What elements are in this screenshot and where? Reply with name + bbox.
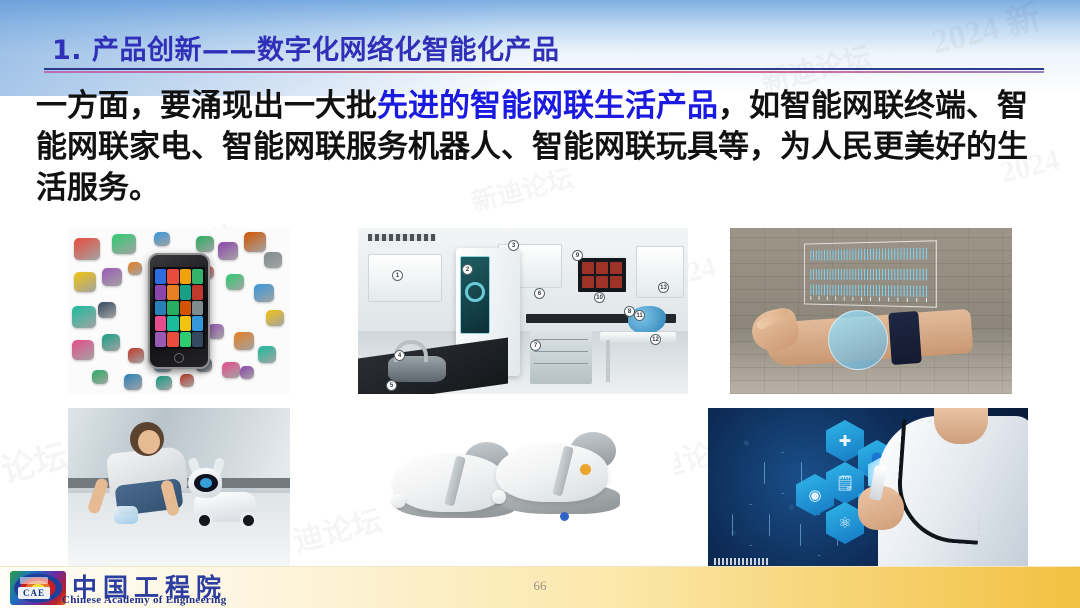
phone-app-icon [180, 332, 191, 347]
phone-app-icon [155, 301, 166, 316]
phone-app-icon [192, 269, 203, 284]
robot-toy-small [114, 506, 138, 524]
holo-tick-row [810, 296, 929, 302]
app-icon [72, 340, 94, 360]
phone-app-icon [167, 285, 178, 300]
body-paragraph: 一方面，要涌现出一大批先进的智能网联生活产品，如智能网联终端、智能网联家电、智能… [36, 86, 1048, 210]
app-icon [244, 232, 266, 252]
robot-dog-wheel-rear [240, 512, 257, 529]
page-number: 66 [0, 578, 1080, 594]
waveform-row-1 [810, 248, 929, 261]
kitchen-callout-11: 11 [634, 310, 645, 321]
phone-app-icon [180, 301, 191, 316]
shoe-indicator-blue [560, 512, 569, 521]
app-icon [102, 268, 122, 286]
waveform-row-2 [810, 269, 929, 281]
photo-smart-footwear [386, 418, 674, 568]
app-icon [240, 366, 254, 379]
phone-app-icon [167, 269, 178, 284]
app-icon [72, 306, 96, 328]
holographic-display-panel [804, 240, 937, 308]
barcode-strip [714, 558, 770, 565]
phone-app-icon [167, 301, 178, 316]
phone-app-icon [180, 269, 191, 284]
app-icon [74, 272, 96, 292]
kitchen-control-display [576, 256, 628, 294]
kitchen-callout-10: 10 [594, 292, 605, 303]
app-icon [92, 370, 108, 384]
kitchen-callout-3: 3 [508, 240, 519, 251]
title-divider-red [44, 71, 1044, 73]
phone-app-icon [180, 316, 191, 331]
app-icon [264, 252, 282, 268]
page-title: 1. 产品创新——数字化网络化智能化产品 [52, 28, 559, 67]
app-icon [124, 374, 142, 390]
child-face [138, 430, 160, 454]
kitchen-drawers [530, 328, 592, 384]
waveform-row-3 [810, 285, 929, 298]
gear-icon [465, 282, 485, 302]
phone-app-icon [167, 332, 178, 347]
phone-app-icon [167, 316, 178, 331]
kitchen-callout-5: 5 [386, 380, 397, 391]
phone-app-icon [155, 316, 166, 331]
app-icon [102, 334, 120, 351]
smartphone-device [148, 253, 210, 369]
app-icon [74, 238, 100, 260]
app-icon [254, 284, 274, 302]
wearable-wristband [888, 311, 922, 365]
phone-app-icon [155, 269, 166, 284]
footer-bar: CAE 中国工程院 Chinese Academy of Engineering… [0, 566, 1080, 608]
app-icon [266, 310, 284, 326]
app-icon [258, 346, 276, 363]
app-icon [98, 302, 116, 318]
kitchen-pullout-table [600, 332, 676, 342]
photo-smartphone-apps [68, 228, 290, 394]
app-icon [222, 362, 240, 378]
kitchen-led-strip [368, 234, 436, 241]
photo-child-robot-dog [68, 408, 290, 566]
shoe-knob-right [492, 490, 506, 504]
robot-dog-eye [200, 478, 212, 488]
phone-app-icon [192, 285, 203, 300]
watermark-text: 论坛 [0, 429, 73, 493]
app-icon [218, 242, 238, 260]
shoe-knob-left [392, 494, 406, 508]
app-icon [226, 274, 244, 290]
kitchen-table-leg [606, 340, 610, 382]
photo-smart-kitchen: 12345678910111213 [358, 228, 688, 394]
phone-app-icon [180, 285, 191, 300]
phone-app-icon [192, 316, 203, 331]
app-icon [180, 374, 194, 387]
watermark-text: 迪论坛 [288, 496, 386, 560]
app-icon [234, 332, 254, 350]
kitchen-callout-6: 6 [534, 288, 545, 299]
app-icon [208, 324, 224, 339]
title-divider [44, 68, 1044, 74]
shoe-indicator-amber [580, 464, 591, 475]
app-icon [156, 376, 172, 390]
smartphone-screen [153, 267, 205, 349]
photo-smart-medical: ✚ 👤 🗒 ◉ ⚛ ⚙ 💼 ✎ [708, 408, 1028, 568]
kitchen-callout-13: 13 [658, 282, 669, 293]
kitchen-callout-12: 12 [650, 334, 661, 345]
footer-org-name-en: Chinese Academy of Engineering [62, 594, 227, 606]
phone-app-icon [155, 285, 166, 300]
slide-canvas: 2024 新20242024 赛道2024论坛迪论坛迪论坛论坛新迪论坛新迪论坛 … [0, 0, 1080, 608]
phone-app-icon [192, 301, 203, 316]
app-icon [112, 234, 136, 254]
kitchen-callout-1: 1 [392, 270, 403, 281]
body-text-part1: 一方面，要涌现出一大批 [36, 88, 377, 124]
projection-lens [828, 310, 888, 370]
app-icon [128, 262, 142, 275]
phone-app-icon [155, 332, 166, 347]
app-icon [196, 236, 214, 252]
kitchen-upper-cabinet-left [368, 254, 442, 302]
phone-app-icon [192, 332, 203, 347]
kitchen-callout-2: 2 [462, 264, 473, 275]
app-icon [154, 232, 170, 246]
robot-dog-wheel-front [196, 512, 213, 529]
photo-wearable-hologram [730, 228, 1012, 394]
kitchen-callout-9: 9 [572, 250, 583, 261]
home-button-icon [174, 353, 184, 363]
kitchen-callout-7: 7 [530, 340, 541, 351]
kitchen-callout-4: 4 [394, 350, 405, 361]
watermark-text: 2024 新 [926, 0, 1045, 64]
title-divider-blue [44, 68, 1044, 70]
app-icon [128, 348, 144, 363]
body-text-highlight: 先进的智能网联生活产品 [377, 88, 718, 124]
